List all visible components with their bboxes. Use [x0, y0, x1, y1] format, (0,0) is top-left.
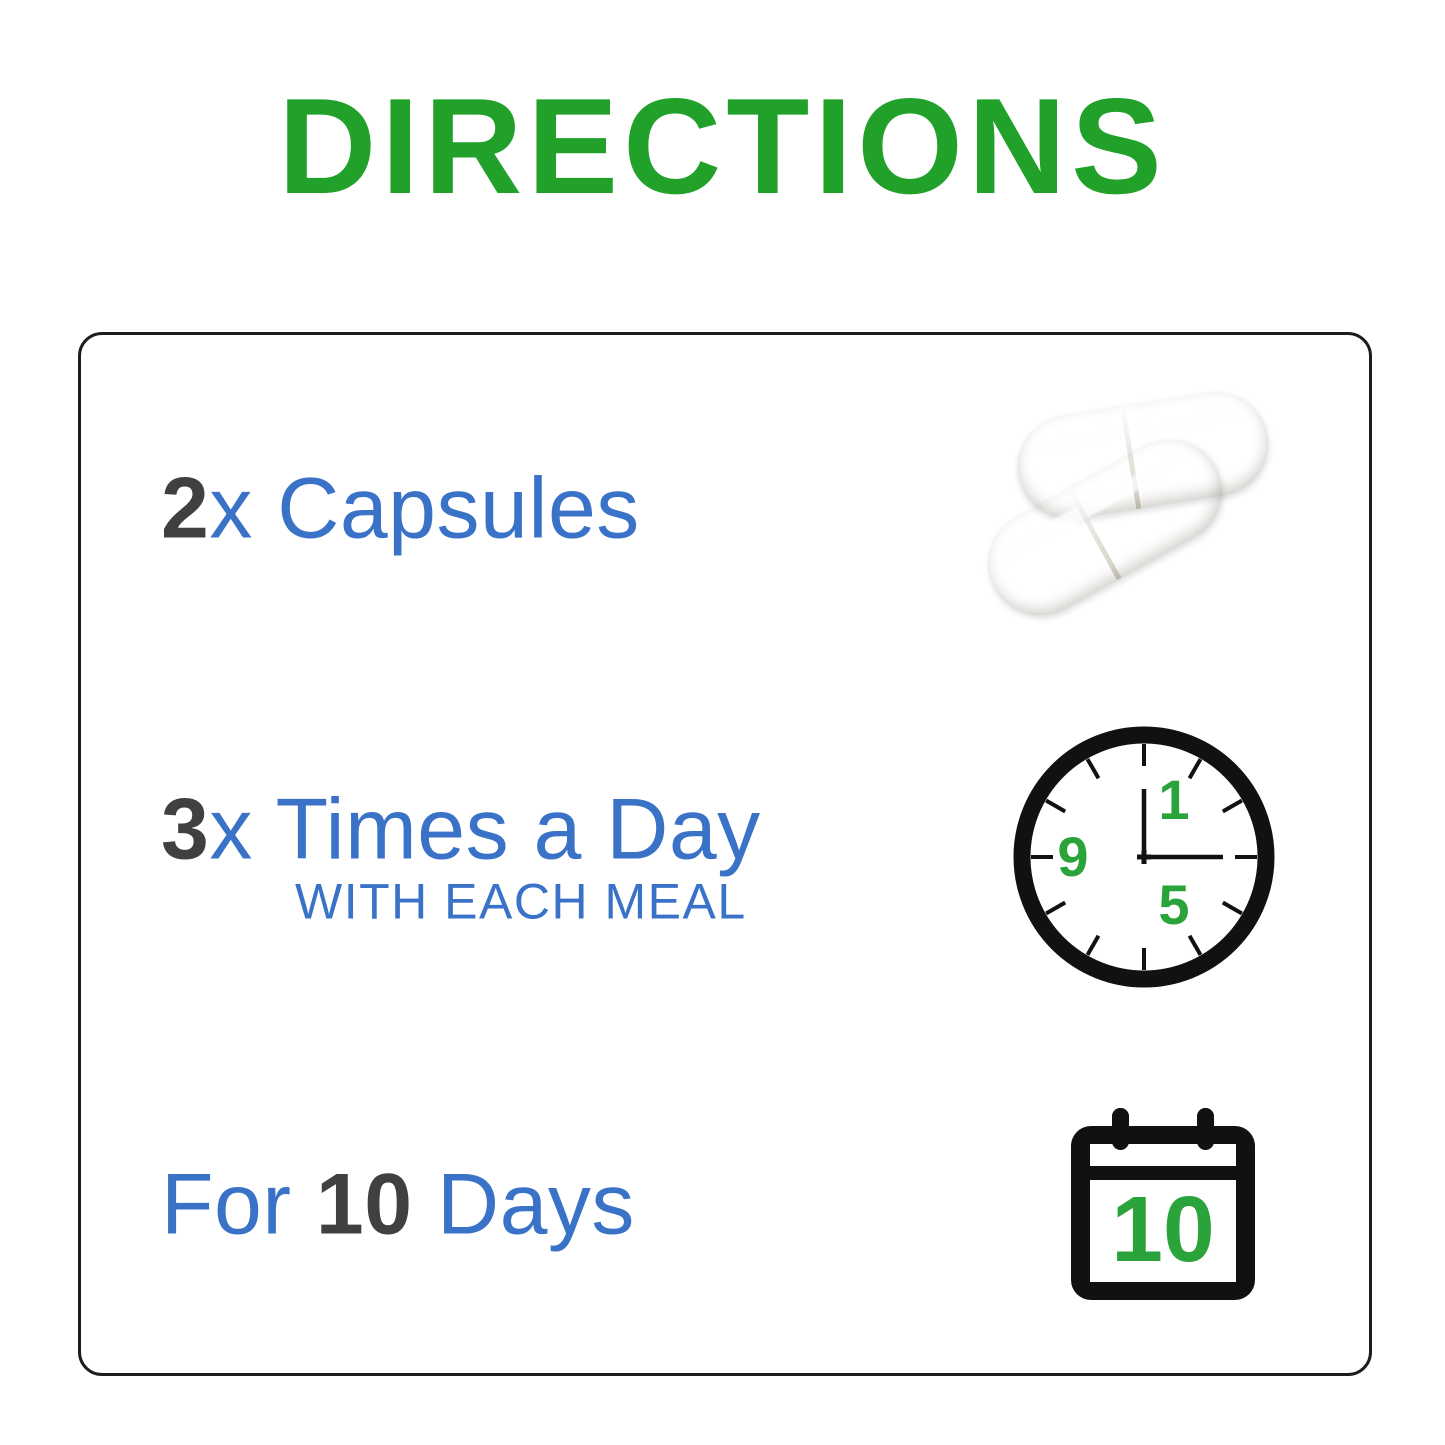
directions-row-duration: For 10 Days	[81, 1031, 1369, 1379]
duration-prefix: For	[161, 1157, 316, 1253]
frequency-headline: 3x Times a Day	[161, 784, 761, 877]
capsules-text-block: 2x Capsules	[161, 463, 640, 556]
directions-row-capsules: 2x Capsules	[81, 335, 1369, 683]
capsules-graphic-wrapper	[977, 402, 1277, 617]
directions-panel-page: DIRECTIONS 2x Capsules 3x Times a Day WI…	[0, 0, 1445, 1445]
calendar-graphic-wrapper: 10	[1063, 1106, 1277, 1304]
clock-face-svg: 1 5 9	[1011, 724, 1277, 990]
directions-row-frequency: 3x Times a Day WITH EACH MEAL	[81, 683, 1369, 1031]
calendar-icon: 10	[1063, 1106, 1263, 1304]
clock-numeral-9: 9	[1057, 825, 1088, 888]
capsules-label: x Capsules	[209, 461, 639, 557]
duration-headline: For 10 Days	[161, 1159, 635, 1252]
clock-numeral-1: 1	[1158, 768, 1189, 831]
duration-count: 10	[316, 1157, 413, 1253]
clock-graphic-wrapper: 1 5 9	[1011, 724, 1277, 990]
frequency-subtitle: WITH EACH MEAL	[161, 872, 761, 930]
page-title: DIRECTIONS	[0, 78, 1445, 214]
frequency-label: x Times a Day	[209, 782, 760, 878]
frequency-count: 3	[161, 782, 209, 878]
clock-icon: 1 5 9	[1011, 724, 1277, 990]
capsules-headline: 2x Capsules	[161, 463, 640, 556]
calendar-header-strip	[1090, 1144, 1236, 1166]
directions-card: 2x Capsules 3x Times a Day WITH EACH MEA…	[78, 332, 1372, 1376]
clock-numeral-5: 5	[1158, 873, 1189, 936]
frequency-text-block: 3x Times a Day WITH EACH MEAL	[161, 784, 761, 931]
capsules-icon	[977, 402, 1277, 617]
duration-text-block: For 10 Days	[161, 1159, 635, 1252]
calendar-day-number: 10	[1111, 1177, 1214, 1281]
calendar-face-svg: 10	[1063, 1106, 1263, 1304]
duration-label: Days	[413, 1157, 635, 1253]
capsules-count: 2	[161, 461, 209, 557]
